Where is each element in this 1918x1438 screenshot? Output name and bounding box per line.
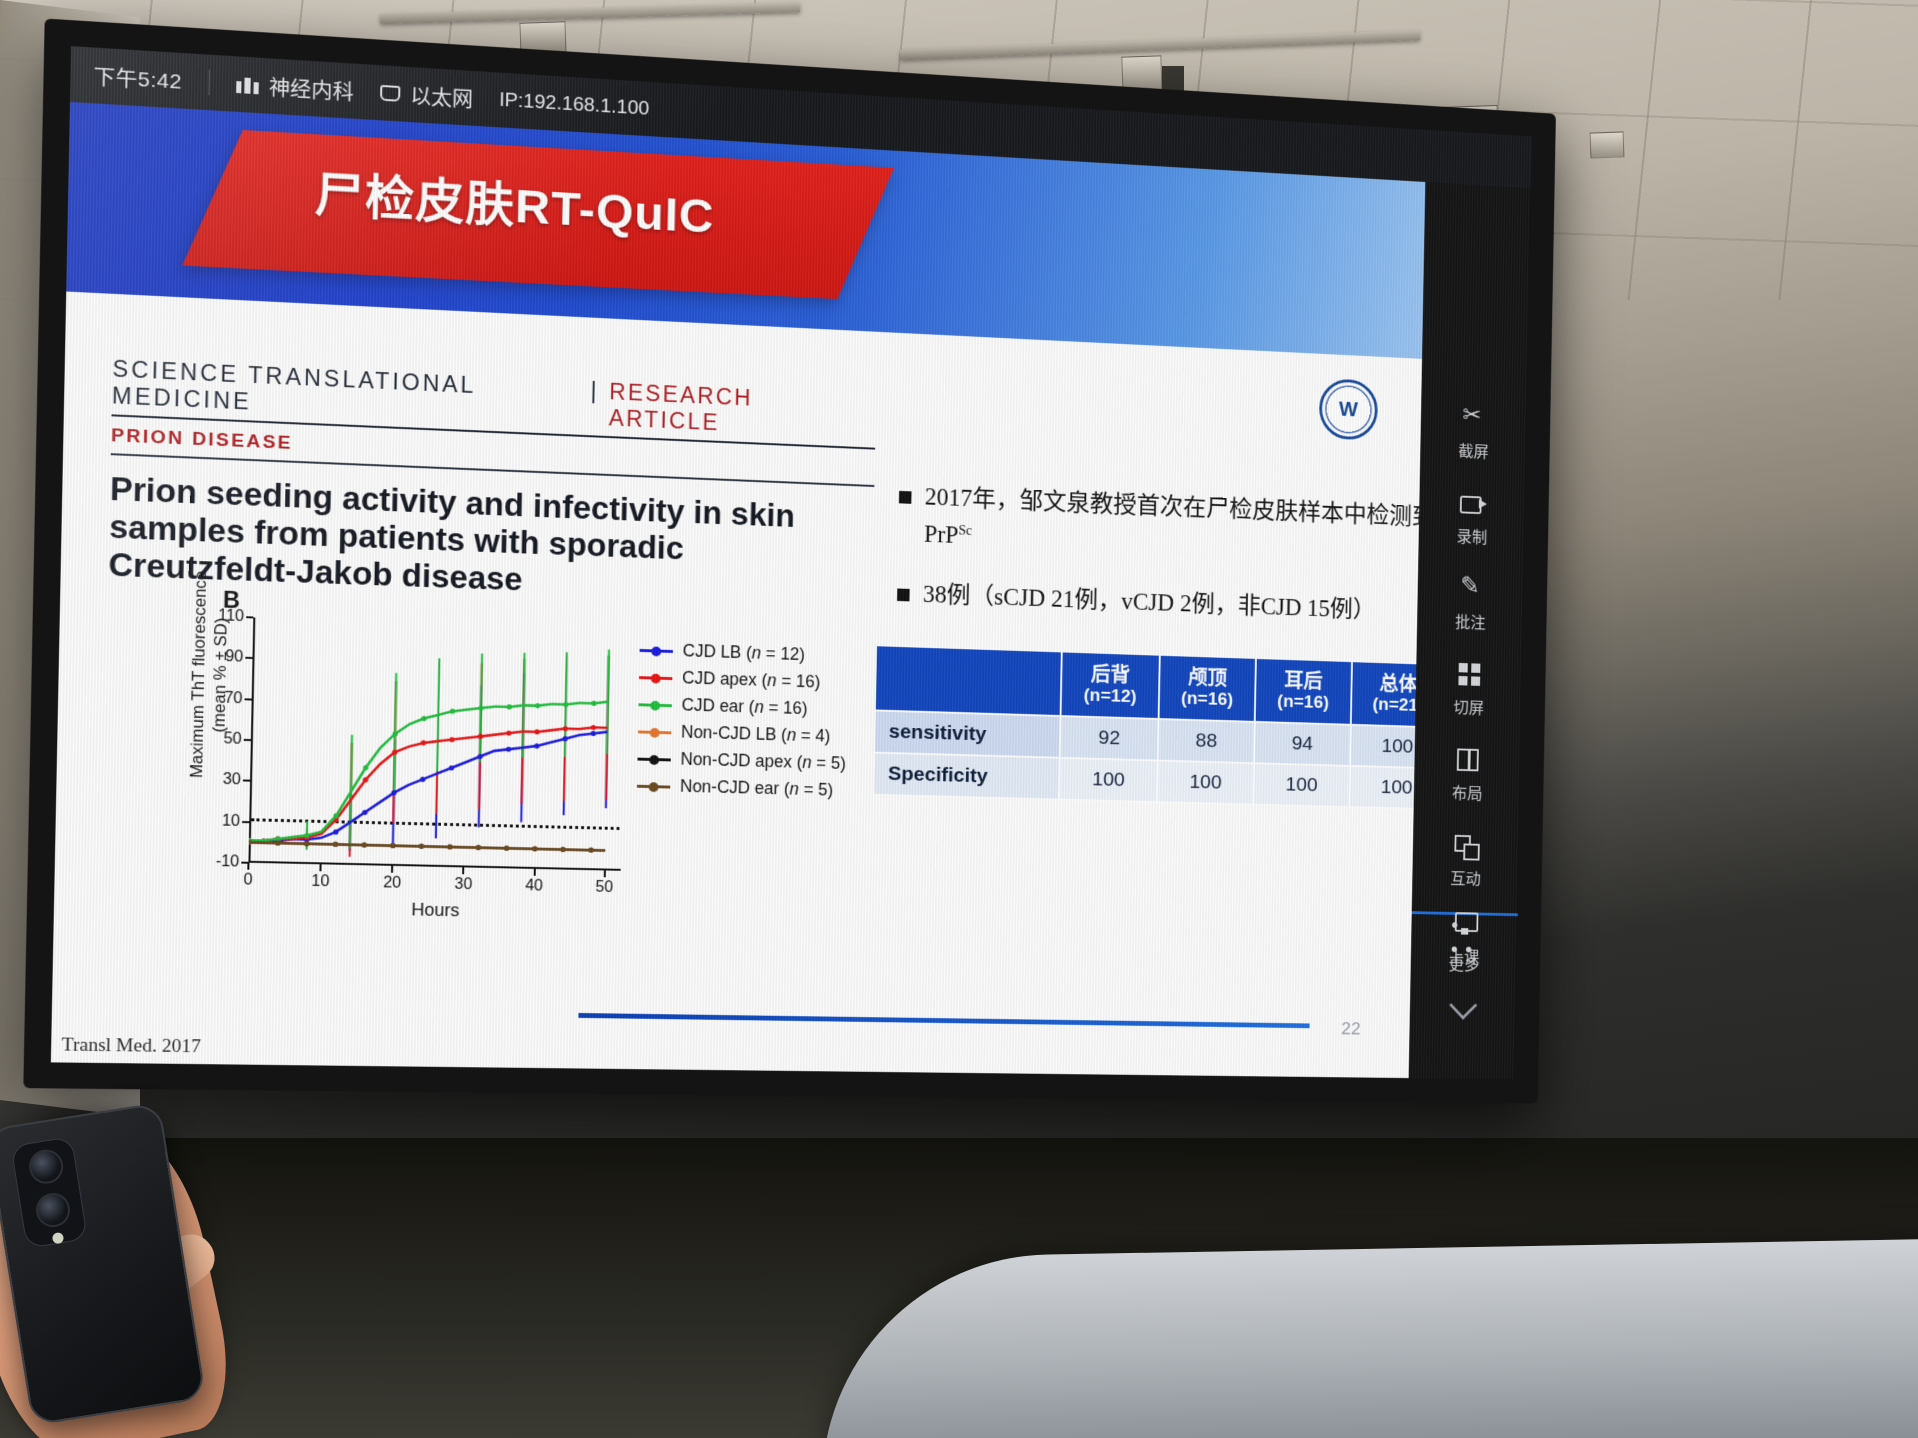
university-logo: W bbox=[1319, 378, 1378, 441]
chart-data-point bbox=[362, 842, 367, 847]
chart-data-point bbox=[534, 743, 539, 748]
chart-legend-item: Non-CJD ear (n = 5) bbox=[637, 772, 897, 806]
chart-y-axis-label: Maximum ThT fluorescence (mean % ± SD) bbox=[185, 565, 233, 784]
chart-y-tick-label: 30 bbox=[223, 771, 251, 790]
chart-series-line bbox=[249, 691, 608, 848]
chart-data-point bbox=[591, 725, 596, 730]
chart-data-point bbox=[450, 709, 455, 714]
chevron-down-icon[interactable] bbox=[1449, 991, 1477, 1020]
chart-legend-label: CJD apex (n = 16) bbox=[682, 670, 820, 691]
chart-data-point bbox=[504, 846, 509, 851]
table-cell: 100 bbox=[1157, 761, 1254, 805]
chart-y-tick-label: 10 bbox=[222, 812, 250, 830]
scissors-icon bbox=[1460, 404, 1487, 433]
chart-data-point bbox=[333, 842, 338, 847]
chart-data-point bbox=[506, 747, 511, 752]
toolbar-label: 互动 bbox=[1450, 865, 1481, 889]
toolbar-label: 上课 bbox=[1449, 944, 1480, 968]
slide-footer-rule bbox=[578, 1013, 1309, 1028]
chart-legend-label: Non-CJD LB (n = 4) bbox=[681, 724, 831, 745]
chart-data-point bbox=[419, 844, 424, 849]
toolbar-label: 截屏 bbox=[1458, 438, 1489, 463]
table-cell: 100 bbox=[1059, 758, 1157, 802]
toolbar-item-interact[interactable]: 互动 bbox=[1450, 831, 1482, 889]
pen-icon bbox=[1457, 575, 1484, 604]
chart-data-point bbox=[563, 702, 568, 707]
chart-x-tick-label: 40 bbox=[525, 869, 543, 896]
display-toolbar: 截屏 录制 批注 切屏 bbox=[1409, 182, 1532, 1079]
chart-legend-marker bbox=[639, 671, 673, 685]
chart-legend: CJD LB (n = 12)CJD apex (n = 16)CJD ear … bbox=[637, 636, 899, 806]
chart-series-layer bbox=[248, 617, 623, 870]
toolbar-item-layout[interactable]: 布局 bbox=[1452, 746, 1484, 804]
chart-legend-label: CJD ear (n = 16) bbox=[681, 697, 807, 718]
table-column-header: 后背 (n=12) bbox=[1061, 651, 1160, 718]
split-screen-icon bbox=[1456, 660, 1483, 689]
slide-page-number: 22 bbox=[1341, 1019, 1361, 1040]
chart-plot-area: -10103050709011001020304050 bbox=[248, 617, 623, 870]
display-wrapper: 下午5:42 神经内科 以太网 IP:192.168.1.100 bbox=[0, 0, 1918, 1438]
slide-source-note: Transl Med. 2017 bbox=[61, 1035, 201, 1059]
chart-x-tick-label: 10 bbox=[311, 864, 330, 891]
square-bullet-icon bbox=[897, 588, 910, 601]
chart-data-point bbox=[390, 843, 395, 848]
camera-lens-icon bbox=[27, 1147, 66, 1186]
table-corner-cell bbox=[875, 645, 1062, 716]
chart-data-point bbox=[447, 844, 452, 849]
table-column-name: 颅顶 bbox=[1188, 666, 1227, 689]
chart-y-tick-label: 70 bbox=[224, 689, 252, 708]
chart-legend-marker bbox=[638, 698, 672, 712]
layout-icon bbox=[1454, 746, 1481, 775]
chart-data-point bbox=[534, 729, 539, 734]
table-column-sub: (n=16) bbox=[1260, 691, 1347, 715]
ethernet-icon bbox=[380, 85, 400, 102]
journal-section: RESEARCH ARTICLE bbox=[609, 379, 850, 442]
screenshot-root: 下午5:42 神经内科 以太网 IP:192.168.1.100 bbox=[0, 0, 1918, 1438]
chart-data-point bbox=[476, 845, 481, 850]
chart-data-point bbox=[588, 847, 593, 852]
chart-legend-label: Non-CJD apex (n = 5) bbox=[680, 751, 846, 772]
table-column-name: 耳后 bbox=[1284, 669, 1323, 692]
toolbar-item-screenshot[interactable]: 截屏 bbox=[1458, 403, 1490, 462]
camera-cluster bbox=[10, 1136, 88, 1248]
chart-data-point bbox=[478, 734, 483, 739]
toolbar-label: 切屏 bbox=[1453, 694, 1484, 718]
status-divider bbox=[208, 69, 210, 95]
table-column-name: 总体 bbox=[1379, 672, 1417, 695]
table-column-sub: (n=16) bbox=[1163, 688, 1251, 712]
status-ip: IP:192.168.1.100 bbox=[499, 89, 650, 120]
toolbar-label: 批注 bbox=[1455, 609, 1486, 633]
interactive-display: 下午5:42 神经内科 以太网 IP:192.168.1.100 bbox=[23, 18, 1556, 1103]
figure-panel: B Maximum ThT fluorescence (mean % ± SD)… bbox=[126, 585, 887, 956]
class-icon bbox=[1451, 909, 1479, 937]
status-department-label: 神经内科 bbox=[268, 71, 354, 106]
status-time: 下午5:42 bbox=[93, 60, 182, 95]
chart-data-point bbox=[563, 726, 568, 731]
chart-legend-marker bbox=[640, 644, 674, 658]
bullet-text: 38例（sCJD 21例，vCJD 2例，非CJD 15例） bbox=[923, 577, 1426, 633]
table-column-name: 后背 bbox=[1091, 663, 1131, 686]
chart-data-point bbox=[563, 736, 568, 741]
toolbar-label: 录制 bbox=[1456, 523, 1487, 547]
chart-data-point bbox=[532, 846, 537, 851]
chart-legend-marker bbox=[637, 752, 671, 766]
chart-legend-label: CJD LB (n = 12) bbox=[682, 643, 804, 664]
chart-data-point bbox=[535, 703, 540, 708]
table-cell: 88 bbox=[1158, 719, 1255, 763]
chart-x-tick-label: 30 bbox=[454, 867, 472, 894]
record-icon bbox=[1459, 489, 1486, 518]
chart-x-tick-label: 50 bbox=[595, 870, 613, 897]
table-cell: 94 bbox=[1254, 722, 1350, 766]
bullet-text: 2017年，邹文泉教授首次在尸检皮肤样本中检测到 PrPSc bbox=[924, 480, 1426, 575]
results-table-body: sensitivity 92 88 94 100 Specificity 100 bbox=[873, 710, 1425, 809]
status-network: 以太网 bbox=[380, 78, 474, 113]
toolbar-item-split-screen[interactable]: 切屏 bbox=[1453, 660, 1485, 719]
chart-y-tick-label: 50 bbox=[223, 730, 251, 749]
table-row-label: Specificity bbox=[873, 753, 1060, 800]
journal-divider: | bbox=[590, 378, 599, 405]
toolbar-item-class[interactable]: 上课 bbox=[1411, 908, 1518, 968]
bullet-list: 2017年，邹文泉教授首次在尸检皮肤样本中检测到 PrPSc 38例（sCJD … bbox=[896, 478, 1425, 655]
chart-x-tick-label: 20 bbox=[383, 866, 401, 893]
table-column-header: 颅顶 (n=16) bbox=[1158, 655, 1256, 722]
table-column-sub: (n=12) bbox=[1066, 685, 1155, 709]
toolbar-item-record[interactable]: 录制 bbox=[1456, 489, 1488, 548]
chart-data-point bbox=[449, 737, 454, 742]
slide-body: W SCIENCE TRANSLATIONAL MEDICINE | RESEA… bbox=[51, 292, 1422, 1079]
chart-legend-marker bbox=[638, 725, 672, 739]
table-column-header: 耳后 (n=16) bbox=[1255, 658, 1352, 725]
screen: 下午5:42 神经内科 以太网 IP:192.168.1.100 bbox=[51, 46, 1532, 1079]
chart-y-tick-label: 90 bbox=[225, 649, 253, 668]
chart-data-point bbox=[507, 704, 512, 709]
list-item: 38例（sCJD 21例，vCJD 2例，非CJD 15例） bbox=[897, 576, 1426, 633]
chart-data-point bbox=[421, 740, 426, 745]
chart-x-axis-label: Hours bbox=[247, 896, 620, 924]
chart-series-line bbox=[249, 842, 605, 850]
university-logo-mark: W bbox=[1339, 399, 1358, 420]
square-bullet-icon bbox=[899, 491, 912, 504]
chart-legend-label: Non-CJD ear (n = 5) bbox=[680, 778, 833, 799]
chart-x-tick-label: 0 bbox=[243, 863, 253, 890]
camera-lens-icon bbox=[34, 1191, 73, 1230]
chart-series-line bbox=[249, 718, 608, 849]
chart-data-point bbox=[506, 730, 511, 735]
list-item: 2017年，邹文泉教授首次在尸检皮肤样本中检测到 PrPSc bbox=[898, 478, 1425, 574]
flash-icon bbox=[52, 1232, 65, 1245]
chart-data-point bbox=[591, 701, 596, 706]
chart-data-point bbox=[304, 841, 309, 846]
status-network-label: 以太网 bbox=[410, 80, 474, 113]
chart-data-point bbox=[478, 705, 483, 710]
status-department: 神经内科 bbox=[236, 69, 354, 106]
table-column-header: 总体 (n=21) bbox=[1350, 661, 1425, 727]
table-cell: 100 bbox=[1253, 763, 1349, 807]
interact-icon bbox=[1452, 831, 1479, 860]
slide: 尸检皮肤RT-QuIC W SCIENCE TRANSLATIONAL MEDI… bbox=[51, 102, 1425, 1078]
chart-data-point bbox=[560, 847, 565, 852]
table-row-label: sensitivity bbox=[874, 710, 1061, 757]
toolbar-label: 布局 bbox=[1452, 780, 1483, 804]
toolbar-item-annotate[interactable]: 批注 bbox=[1455, 574, 1487, 633]
building-icon bbox=[236, 75, 259, 94]
results-table: 后背 (n=12) 颅顶 (n=16) 耳后 ( bbox=[872, 644, 1425, 810]
chart-legend-marker bbox=[637, 779, 671, 792]
journal-header-row: SCIENCE TRANSLATIONAL MEDICINE | RESEARC… bbox=[112, 356, 850, 442]
chart-series-line bbox=[249, 722, 607, 849]
chart-y-tick-label: 110 bbox=[218, 607, 254, 626]
chart-data-point bbox=[591, 731, 596, 736]
table-cell: 92 bbox=[1060, 716, 1158, 760]
